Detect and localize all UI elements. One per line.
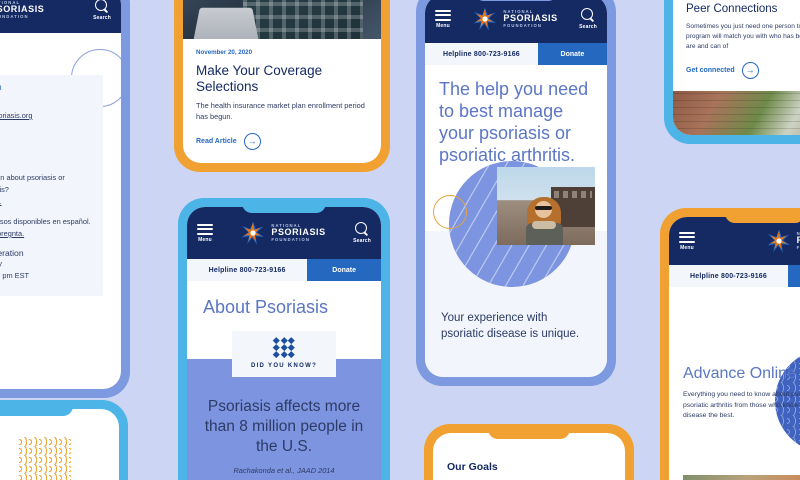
donate-button[interactable] [788, 265, 800, 287]
hamburger-menu-icon [435, 10, 451, 21]
hero-headline: The help you need to best manage your ps… [439, 79, 593, 167]
get-connected-link[interactable]: Get connected → [686, 62, 800, 79]
phone-notch [0, 400, 73, 416]
phone-screen: Peer Connections Sometimes you just need… [673, 0, 800, 135]
read-article-label: Read Article [196, 138, 237, 145]
goals-title: Our Goals [447, 461, 611, 473]
hero-caption: Your experience with psoriatic disease i… [425, 311, 607, 342]
advance-title: Advance Online [683, 365, 800, 383]
phone-screen: Menu NATIONAL PSORIASIS FOUNDATION [425, 0, 607, 377]
search-label: Search [353, 238, 371, 244]
npf-logo-text: NATIONAL PSORIASIS FOUNDATION [0, 1, 44, 19]
spanish-text: Tenemos recursos disponibles en español. [0, 216, 91, 228]
photo-brick-wall [673, 91, 800, 135]
helpline-link[interactable]: Helpline 800-723-9166 [425, 43, 538, 65]
get-connected-label: Get connected [686, 67, 735, 74]
helpline-link[interactable]: Helpline 800-723-9166 [669, 265, 788, 287]
article-description: The health insurance market plan enrollm… [196, 101, 368, 122]
search-label: Search [579, 24, 597, 30]
decorative-orange-wave-pattern [19, 437, 71, 480]
arrow-right-icon: → [742, 62, 759, 79]
phone-notch [474, 0, 558, 1]
peer-photo-bottom [673, 91, 800, 135]
helpline-link[interactable]: Helpline 800-723-9166 [187, 259, 307, 281]
site-header: NATIONAL PSORIASIS FOUNDATION Search [0, 0, 121, 33]
about-title-block: About Psoriasis [187, 281, 381, 327]
did-you-know-label: DID YOU KNOW? [232, 363, 336, 369]
npf-logo-text: NATIONAL PSORIASIS FOUNDATION [797, 232, 800, 250]
search-button[interactable]: Search [579, 8, 597, 30]
phone-mockup-hero: Menu NATIONAL PSORIASIS FOUNDATION [416, 0, 616, 386]
peer-description: Sometimes you just need one person to On… [686, 22, 800, 52]
npf-star-logo-icon [472, 6, 498, 32]
menu-button[interactable]: Menu [197, 224, 213, 243]
site-header: Menu NATIONAL PSORIASIS FOUNDATION [425, 0, 607, 43]
statistic-citation: Rachakonda et al., JAAD 2014 [197, 466, 371, 475]
logo-line-3: FOUNDATION [503, 24, 557, 28]
hero-photo-woman-street [497, 167, 595, 245]
hours-title: Hours of Operation [0, 248, 91, 258]
helpline-donate-bar: Helpline 800-723-9166 Donate [425, 43, 607, 65]
search-label: Search [93, 15, 111, 21]
email-title: Email Us [0, 100, 91, 110]
goals-body: Our Goals Our current five-year strategi… [433, 433, 625, 480]
npf-logo-text: NATIONAL PSORIASIS FOUNDATION [503, 10, 557, 28]
search-icon [355, 222, 369, 236]
site-header: Menu NATIONAL PSORIASIS FOUNDATION [187, 207, 381, 259]
diamond-grid-icon [232, 338, 336, 357]
hamburger-menu-icon [679, 232, 695, 243]
phone-notch [725, 208, 800, 223]
article-date: November 20, 2020 [196, 49, 368, 56]
donate-button[interactable]: Donate [538, 43, 607, 65]
advance-body: Advance Online Everything you need to kn… [669, 287, 800, 422]
donate-button[interactable]: Donate [307, 259, 381, 281]
phone-mockup-peer-connections: Peer Connections Sometimes you just need… [664, 0, 800, 144]
advance-description: Everything you need to know about psoria… [683, 390, 800, 422]
photo-laptop [194, 8, 259, 39]
phone-notch [488, 424, 570, 439]
logo-line-3: FOUNDATION [271, 238, 325, 242]
contact-card: GET IN TOUCH Email Us education@psoriasi… [0, 75, 103, 296]
arrow-right-icon: → [244, 133, 261, 150]
advance-photo [683, 475, 800, 480]
phone-mockup-contact: NATIONAL PSORIASIS FOUNDATION Search GET… [0, 0, 130, 398]
phone-screen [0, 409, 119, 480]
logo-line-3: FOUNDATION [0, 15, 44, 19]
photo-scarf [532, 221, 556, 229]
menu-label: Menu [680, 245, 694, 251]
article-photo [183, 0, 381, 39]
phone-mockup-waves [0, 400, 128, 480]
did-you-know-badge: DID YOU KNOW? [232, 331, 336, 377]
search-icon [581, 8, 595, 22]
menu-button[interactable]: Menu [679, 232, 695, 251]
statistic-block: Psoriasis affects more than 8 million pe… [187, 397, 381, 475]
phone-mockup-article: November 20, 2020 Make Your Coverage Sel… [174, 0, 390, 172]
phone-mockup-advance-online: Menu NATIONAL PSORIASIS FOUNDATION [660, 208, 800, 480]
helpline-donate-bar: Helpline 800-723-9166 Donate [187, 259, 381, 281]
npf-logo[interactable]: NATIONAL PSORIASIS FOUNDATION [0, 0, 44, 23]
npf-logo[interactable]: NATIONAL PSORIASIS FOUNDATION [240, 220, 325, 246]
menu-label: Menu [198, 237, 212, 243]
npf-logo-text: NATIONAL PSORIASIS FOUNDATION [271, 224, 325, 242]
contact-eyebrow: GET IN TOUCH [0, 85, 91, 92]
npf-star-logo-icon [766, 228, 792, 254]
phone-screen: Our Goals Our current five-year strategi… [433, 433, 625, 480]
photo-person-plaid-shirt [243, 0, 363, 39]
logo-line-3: FOUNDATION [797, 246, 800, 250]
article-title: Make Your Coverage Selections [196, 63, 368, 96]
phone-mockup-about-psoriasis: Menu NATIONAL PSORIASIS FOUNDATION [178, 198, 390, 480]
photo-sunglasses [535, 206, 552, 210]
npf-star-logo-icon [240, 220, 266, 246]
phone-screen: Menu NATIONAL PSORIASIS FOUNDATION [669, 217, 800, 480]
search-button[interactable]: Search [93, 0, 111, 21]
hours-days: Monday–Friday [0, 258, 91, 270]
phone-mockup-goals: Our Goals Our current five-year strategi… [424, 424, 634, 480]
statistic-text: Psoriasis affects more than 8 million pe… [197, 397, 371, 457]
decorative-orange-ring [433, 195, 467, 229]
phone-screen: NATIONAL PSORIASIS FOUNDATION Search GET… [0, 0, 121, 389]
hamburger-menu-icon [197, 224, 213, 235]
photo-woman [527, 193, 563, 245]
page-title: About Psoriasis [203, 297, 365, 319]
helpline-donate-bar: Helpline 800-723-9166 [669, 265, 800, 287]
hours-time: 10:30 am–7:30 pm EST [0, 270, 91, 282]
call-title: Call Us [0, 130, 91, 140]
menu-label: Menu [436, 23, 450, 29]
question-text: Have a question about psoriasis or psori… [0, 172, 91, 196]
peer-body: Peer Connections Sometimes you just need… [673, 0, 800, 91]
phone-notch [242, 198, 326, 213]
search-icon [95, 0, 109, 13]
article-body: November 20, 2020 Make Your Coverage Sel… [183, 39, 381, 160]
peer-title: Peer Connections [686, 3, 800, 15]
npf-logo[interactable]: NATIONAL PSORIASIS FOUNDATION [766, 228, 800, 254]
email-link[interactable]: education@psoriasis.org [0, 110, 91, 122]
phone-link[interactable]: 800-723-9166 [0, 140, 91, 152]
phone-screen: Menu NATIONAL PSORIASIS FOUNDATION [187, 207, 381, 480]
search-button[interactable]: Search [353, 222, 371, 244]
collage-canvas: NATIONAL PSORIASIS FOUNDATION Search GET… [0, 0, 800, 480]
npf-logo[interactable]: NATIONAL PSORIASIS FOUNDATION [472, 6, 557, 32]
phone-option: Option 1 [0, 152, 91, 164]
spanish-question-link[interactable]: Háganos una pregnta. [0, 228, 91, 240]
site-header: Menu NATIONAL PSORIASIS FOUNDATION [669, 217, 800, 265]
menu-button[interactable]: Menu [435, 10, 451, 29]
phone-screen: November 20, 2020 Make Your Coverage Sel… [183, 0, 381, 163]
ask-question-link[interactable]: Ask a question. [0, 196, 91, 208]
read-article-link[interactable]: Read Article → [196, 133, 368, 150]
